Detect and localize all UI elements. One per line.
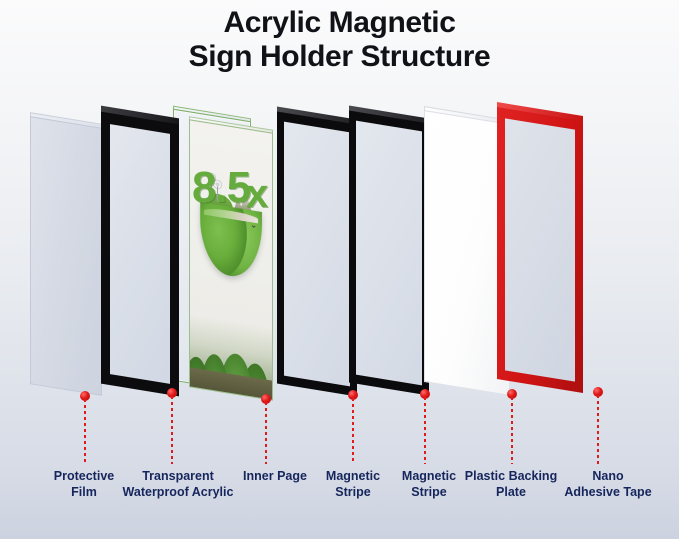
label-line: Magnetic [326, 469, 380, 485]
label-nano-adhesive-tape: Nano Adhesive Tape [564, 469, 651, 500]
label-magnetic-stripe-2: Magnetic Stripe [402, 469, 456, 500]
label-magnetic-stripe-1: Magnetic Stripe [326, 469, 380, 500]
leader-line-transparent-acrylic [171, 389, 173, 464]
leader-line-nano-adhesive-tape [597, 388, 599, 464]
product-structure-diagram: Acrylic Magnetic Sign Holder Structure ⌄ [0, 0, 679, 539]
label-line: Transparent [123, 469, 234, 485]
label-line: Film [54, 485, 114, 501]
artwork-leaf [200, 202, 262, 281]
label-line: Stripe [402, 485, 456, 501]
leader-line-plastic-backing-plate [511, 390, 513, 464]
leader-line-magnetic-stripe-1 [352, 391, 354, 464]
label-line: Magnetic [402, 469, 456, 485]
label-line: Nano [564, 469, 651, 485]
artwork-wind-turbine [211, 177, 212, 195]
title-line-1: Acrylic Magnetic [223, 6, 455, 39]
page-title: Acrylic Magnetic Sign Holder Structure [0, 6, 679, 73]
label-line: Waterproof Acrylic [123, 485, 234, 501]
label-line: Protective [54, 469, 114, 485]
leader-line-inner-page [265, 395, 267, 464]
label-plastic-backing-plate: Plastic Backing Plate [465, 469, 557, 500]
artwork-wind-turbine [217, 183, 218, 201]
label-line: Inner Page [243, 469, 307, 485]
label-transparent-acrylic: Transparent Waterproof Acrylic [123, 469, 234, 500]
leader-line-protective-film [84, 392, 86, 464]
label-line: Adhesive Tape [564, 485, 651, 501]
label-line: Stripe [326, 485, 380, 501]
label-line: Plastic Backing [465, 469, 557, 485]
artwork-bird: ⌄ [250, 220, 258, 230]
label-inner-page: Inner Page [243, 469, 307, 485]
label-line: Plate [465, 485, 557, 501]
label-protective-film: Protective Film [54, 469, 114, 500]
title-line-2: Sign Holder Structure [0, 40, 679, 74]
leader-line-magnetic-stripe-2 [424, 390, 426, 464]
